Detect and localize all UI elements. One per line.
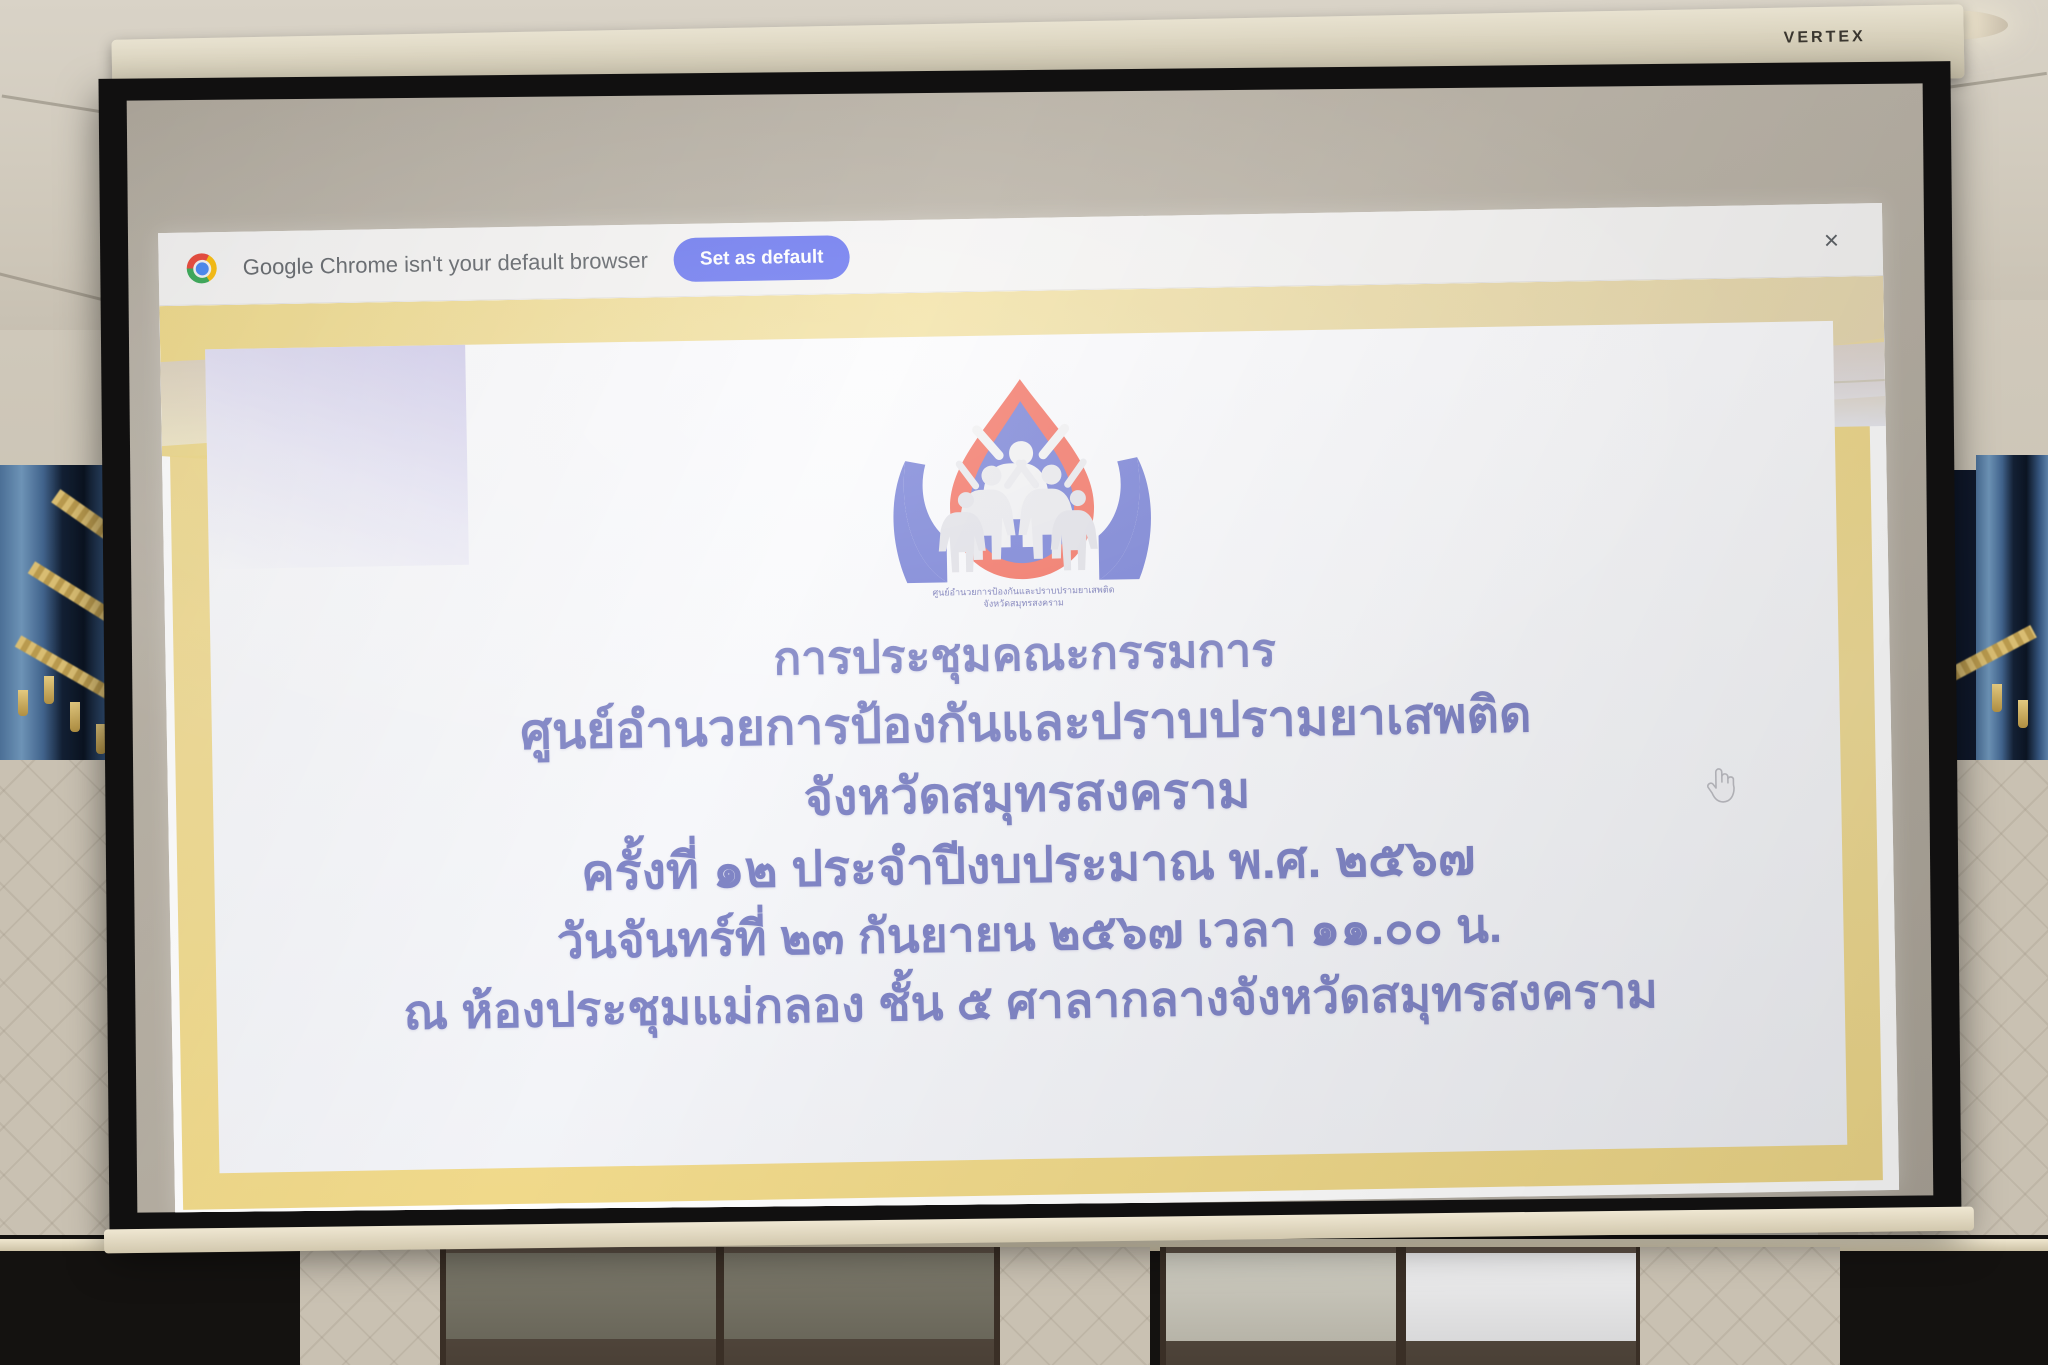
infobar-message: Google Chrome isn't your default browser [243, 248, 649, 281]
meeting-room-scene: VERTEX Google Chrome isn't your default … [0, 0, 2048, 1365]
chrome-browser-window: Google Chrome isn't your default browser… [158, 203, 1899, 1213]
projector-brand-label: VERTEX [1784, 28, 1866, 48]
projector-screen-surface: Google Chrome isn't your default browser… [127, 83, 1934, 1212]
curtain-tassel [44, 676, 54, 704]
oncb-samut-songkhram-logo [880, 365, 1164, 620]
slide-content-area: ศูนย์อำนวยการป้องกันและปราบปรามยาเสพติด … [205, 321, 1847, 1173]
projector-screen-frame: Google Chrome isn't your default browser… [98, 61, 1961, 1239]
chrome-logo-icon [186, 253, 217, 284]
curtain-tassel [18, 690, 28, 716]
presentation-slide: ศูนย์อำนวยการป้องกันและปราบปรามยาเสพติด … [159, 276, 1899, 1213]
curtain-tassel [2018, 700, 2028, 728]
curtain-tassel [1992, 684, 2002, 712]
slide-corner-accent [205, 345, 469, 570]
curtain-blue [1976, 455, 2048, 775]
projector-screen-assembly: VERTEX Google Chrome isn't your default … [104, 22, 1984, 1277]
set-as-default-button[interactable]: Set as default [674, 235, 850, 282]
presentation-viewport[interactable]: ศูนย์อำนวยการป้องกันและปราบปรามยาเสพติด … [159, 276, 1899, 1213]
slide-title-block: การประชุมคณะกรรมการ ศูนย์อำนวยการป้องกัน… [210, 611, 1845, 1055]
close-icon[interactable]: × [1814, 223, 1849, 258]
curtain-tassel [70, 702, 80, 732]
logo-caption: ศูนย์อำนวยการป้องกันและปราบปรามยาเสพติด … [813, 581, 1233, 613]
